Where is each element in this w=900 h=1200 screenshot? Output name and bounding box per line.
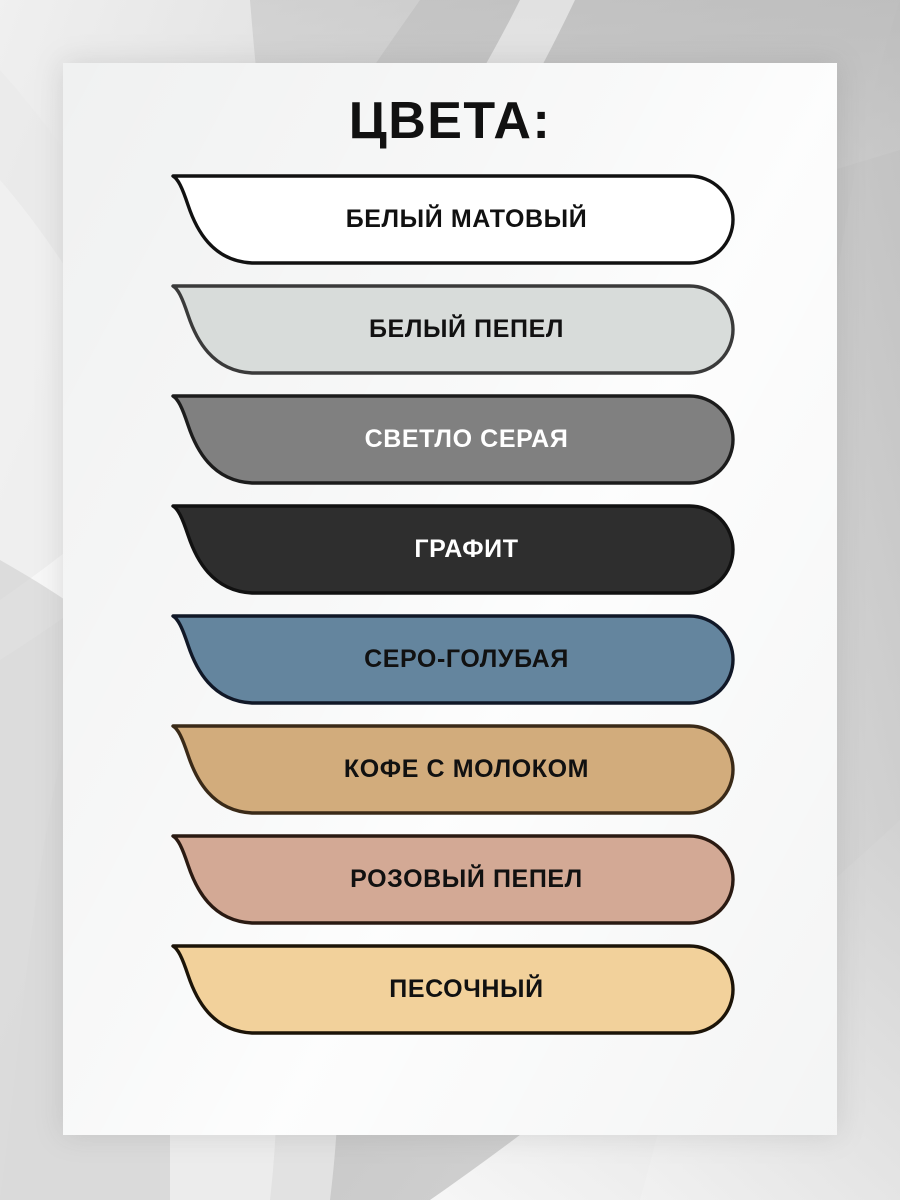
swatch-shape [170, 722, 737, 817]
color-swatch[interactable]: РОЗОВЫЙ ПЕПЕЛ [170, 832, 737, 927]
swatch-fill [173, 726, 733, 813]
swatch-shape [170, 502, 737, 597]
swatch-shape [170, 832, 737, 927]
screenshot-canvas: ЦВЕТА: БЕЛЫЙ МАТОВЫЙБЕЛЫЙ ПЕПЕЛСВЕТЛО СЕ… [0, 0, 900, 1200]
swatch-shape [170, 172, 737, 267]
color-swatch[interactable]: БЕЛЫЙ ПЕПЕЛ [170, 282, 737, 377]
color-swatch[interactable]: КОФЕ С МОЛОКОМ [170, 722, 737, 817]
swatch-fill [173, 616, 733, 703]
color-swatch-list: БЕЛЫЙ МАТОВЫЙБЕЛЫЙ ПЕПЕЛСВЕТЛО СЕРАЯГРАФ… [170, 172, 737, 1037]
swatch-fill [173, 286, 733, 373]
swatch-fill [173, 836, 733, 923]
color-swatch[interactable]: ПЕСОЧНЫЙ [170, 942, 737, 1037]
swatch-shape [170, 392, 737, 487]
swatch-fill [173, 506, 733, 593]
page-title: ЦВЕТА: [63, 95, 837, 147]
swatch-fill [173, 396, 733, 483]
swatch-fill [173, 946, 733, 1033]
color-swatch[interactable]: СВЕТЛО СЕРАЯ [170, 392, 737, 487]
swatch-shape [170, 282, 737, 377]
swatch-shape [170, 612, 737, 707]
swatch-shape [170, 942, 737, 1037]
color-swatch[interactable]: ГРАФИТ [170, 502, 737, 597]
swatch-fill [173, 176, 733, 263]
color-swatch[interactable]: СЕРО-ГОЛУБАЯ [170, 612, 737, 707]
color-chart-card: ЦВЕТА: БЕЛЫЙ МАТОВЫЙБЕЛЫЙ ПЕПЕЛСВЕТЛО СЕ… [63, 63, 837, 1135]
color-swatch[interactable]: БЕЛЫЙ МАТОВЫЙ [170, 172, 737, 267]
